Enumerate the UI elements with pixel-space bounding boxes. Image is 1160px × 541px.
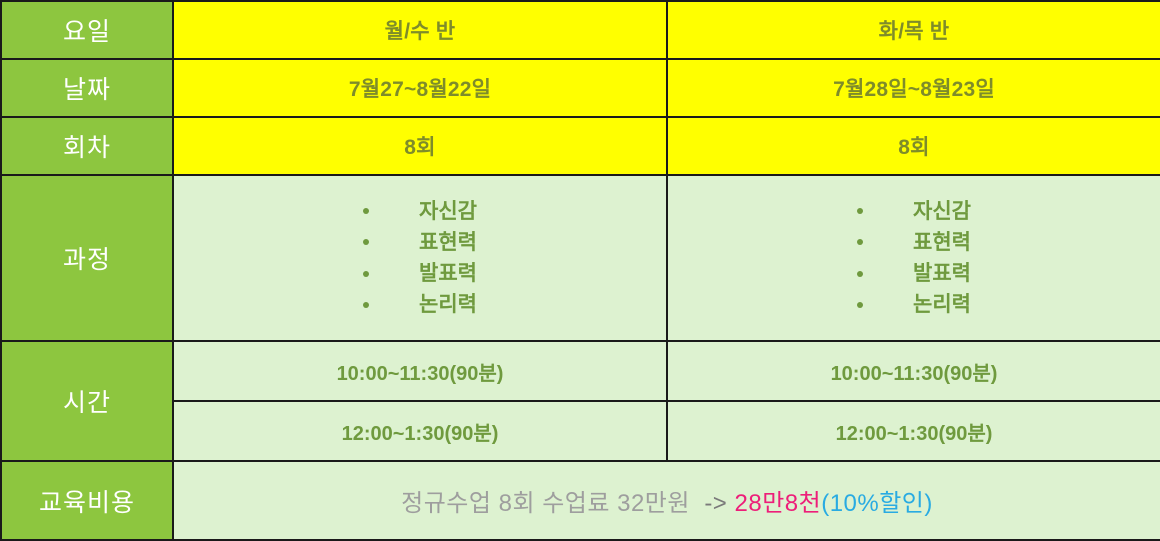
cell-sessions-mon-wed: 8회 [173, 117, 667, 175]
row-label-course: 과정 [1, 175, 173, 341]
table-row-course: 과정 자신감 표현력 발표력 [1, 175, 1160, 341]
course-item-label: 발표력 [913, 258, 971, 289]
row-label-date: 날짜 [1, 59, 173, 117]
list-item: 발표력 [363, 258, 477, 289]
fee-discount-note: (10%할인) [821, 490, 933, 517]
course-item-label: 발표력 [419, 258, 477, 289]
row-label-fee: 교육비용 [1, 461, 173, 540]
list-item: 논리력 [857, 289, 971, 320]
table-row-fee: 교육비용 정규수업 8회 수업료 32만원 -> 28만8천(10%할인) [1, 461, 1160, 540]
course-list-mon-wed: 자신감 표현력 발표력 논리력 [363, 196, 477, 320]
bullet-icon [363, 208, 369, 214]
fee-discount-price: 28만8천 [735, 490, 822, 517]
row-label-time: 시간 [1, 341, 173, 461]
course-item-label: 표현력 [419, 227, 477, 258]
cell-weekday-mon-wed: 월/수 반 [173, 1, 667, 59]
bullet-icon [363, 271, 369, 277]
list-item: 자신감 [363, 196, 477, 227]
cell-course-tue-thu: 자신감 표현력 발표력 논리력 [667, 175, 1160, 341]
list-item: 표현력 [857, 227, 971, 258]
fee-arrow-text: -> [704, 490, 727, 517]
list-item: 자신감 [857, 196, 971, 227]
bullet-icon [363, 302, 369, 308]
course-item-label: 자신감 [913, 196, 971, 227]
table-row-date: 날짜 7월27~8월22일 7월28일~8월23일 [1, 59, 1160, 117]
row-label-weekday: 요일 [1, 1, 173, 59]
course-item-label: 논리력 [419, 289, 477, 320]
fee-base-text: 정규수업 8회 수업료 32만원 [401, 490, 690, 517]
row-label-sessions: 회차 [1, 117, 173, 175]
course-item-label: 논리력 [913, 289, 971, 320]
cell-fee-value: 정규수업 8회 수업료 32만원 -> 28만8천(10%할인) [173, 461, 1160, 540]
bullet-icon [363, 239, 369, 245]
course-list-tue-thu: 자신감 표현력 발표력 논리력 [857, 196, 971, 320]
bullet-icon [857, 239, 863, 245]
cell-weekday-tue-thu: 화/목 반 [667, 1, 1160, 59]
list-item: 논리력 [363, 289, 477, 320]
list-item: 표현력 [363, 227, 477, 258]
bullet-icon [857, 302, 863, 308]
cell-course-mon-wed: 자신감 표현력 발표력 논리력 [173, 175, 667, 341]
bullet-icon [857, 208, 863, 214]
bullet-icon [857, 271, 863, 277]
cell-time-slot-1-tue-thu: 10:00~11:30(90분) [667, 341, 1160, 401]
cell-date-tue-thu: 7월28일~8월23일 [667, 59, 1160, 117]
course-item-label: 자신감 [419, 196, 477, 227]
course-item-label: 표현력 [913, 227, 971, 258]
table-row-time-slot-1: 시간 10:00~11:30(90분) 10:00~11:30(90분) [1, 341, 1160, 401]
cell-time-slot-1-mon-wed: 10:00~11:30(90분) [173, 341, 667, 401]
table-row-sessions: 회차 8회 8회 [1, 117, 1160, 175]
cell-time-slot-2-tue-thu: 12:00~1:30(90분) [667, 401, 1160, 461]
list-item: 발표력 [857, 258, 971, 289]
table-row-time-slot-2: 12:00~1:30(90분) 12:00~1:30(90분) [1, 401, 1160, 461]
cell-sessions-tue-thu: 8회 [667, 117, 1160, 175]
cell-time-slot-2-mon-wed: 12:00~1:30(90분) [173, 401, 667, 461]
table-row-weekday: 요일 월/수 반 화/목 반 [1, 1, 1160, 59]
cell-date-mon-wed: 7월27~8월22일 [173, 59, 667, 117]
class-schedule-table: 요일 월/수 반 화/목 반 날짜 7월27~8월22일 7월28일~8월23일… [0, 0, 1160, 541]
